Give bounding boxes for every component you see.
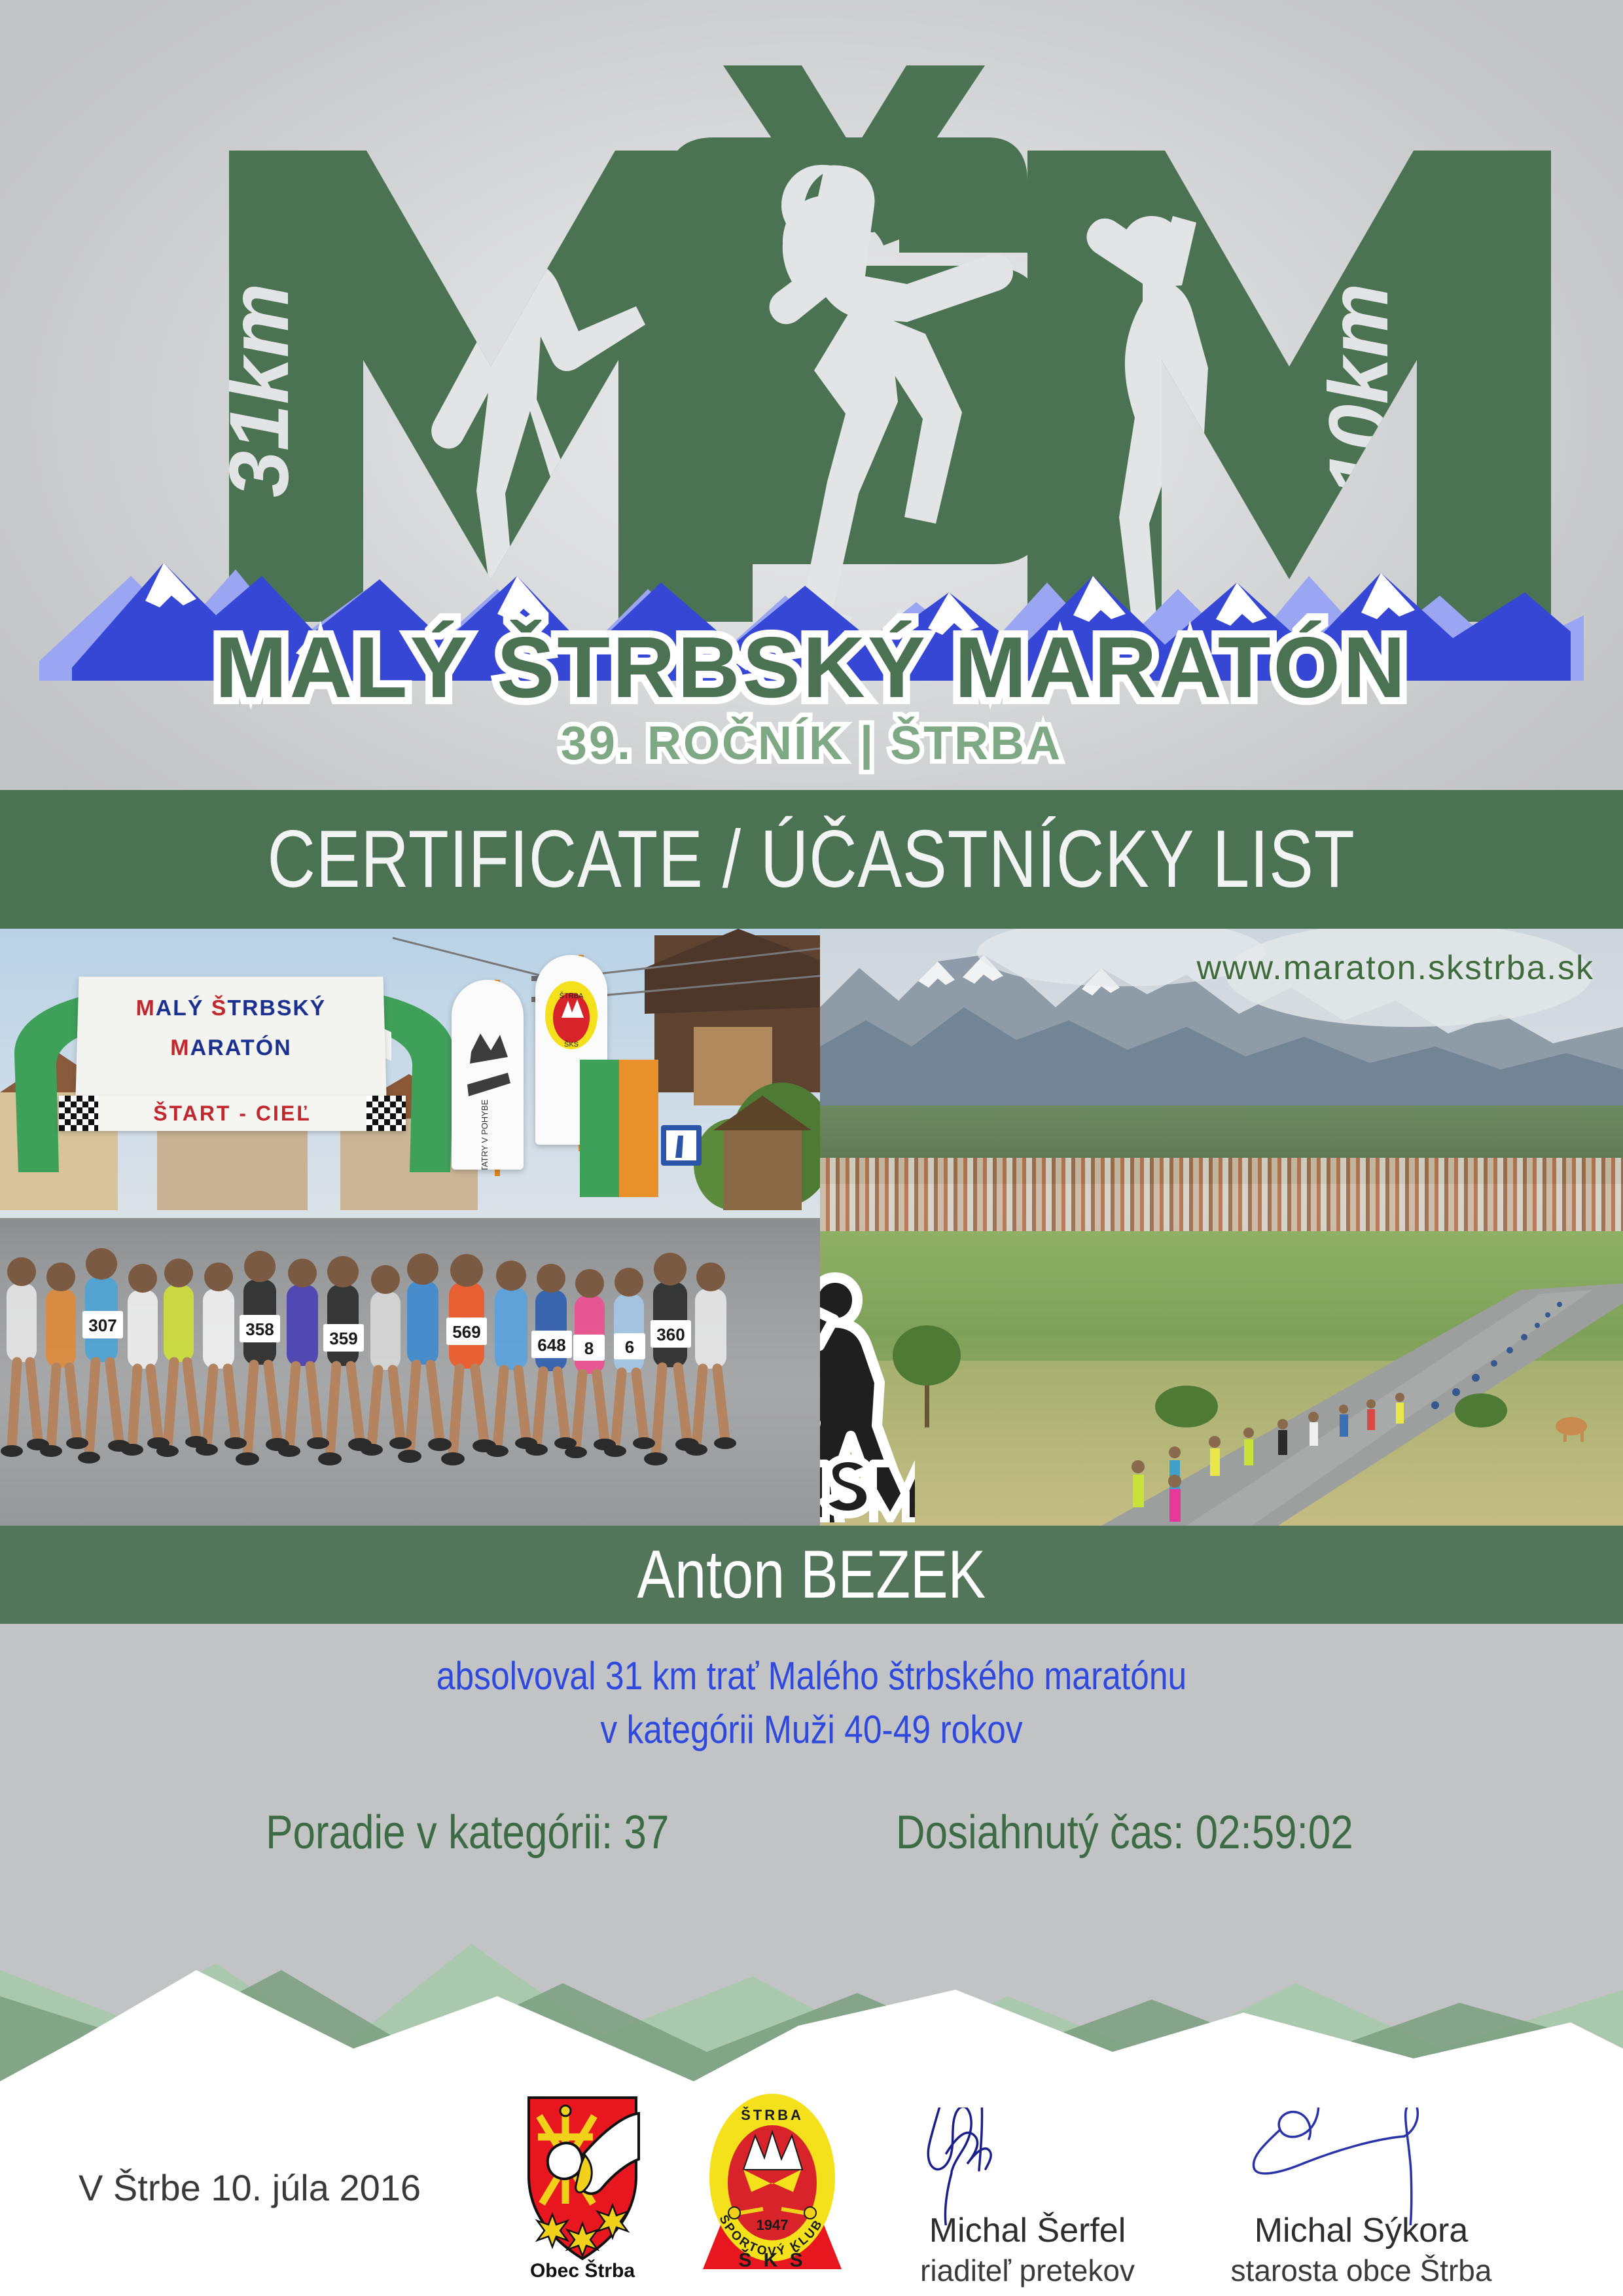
signature-name-director: Michal Šerfel — [844, 2211, 1211, 2250]
distance-left-label: 31km — [213, 283, 306, 497]
finish-time: Dosiahnutý čas: 02:59:02 — [896, 1806, 1353, 1859]
svg-text:6: 6 — [625, 1337, 634, 1357]
course-road-graphic — [820, 1264, 1623, 1526]
signature-name-mayor: Michal Sýkora — [1178, 2211, 1544, 2250]
svg-text:ŠTRBA: ŠTRBA — [560, 992, 584, 1000]
svg-text:307: 307 — [88, 1316, 116, 1335]
runners-crowd-graphic: 307 358 359 569 648 — [0, 1211, 820, 1526]
start-finish-label: ŠTART - CIEĽ — [153, 1102, 312, 1126]
certificate-title: CERTIFICATE / ÚČASTNÍCKY LIST — [268, 819, 1355, 900]
svg-text:359: 359 — [329, 1329, 357, 1348]
issue-date: V Štrbe 10. júla 2016 — [79, 2166, 421, 2209]
race-start-photo: MALÝ ŠTRBSKÝ MARATÓN ŠTART - CIEĽ TATRY … — [0, 929, 820, 1526]
bib-number: 359 — [323, 1324, 364, 1352]
svg-text:569: 569 — [452, 1322, 480, 1342]
checker-pattern-left — [59, 1096, 98, 1131]
obec-strba-coat-of-arms: Obec Štrba Obec Štrba — [517, 2092, 648, 2282]
certificate-title-bar: CERTIFICATE / ÚČASTNÍCKY LIST — [0, 790, 1623, 929]
participant-name: Anton BEZEK — [637, 1541, 986, 1609]
bib-number: 569 — [446, 1318, 487, 1345]
photo-band: MALÝ ŠTRBSKÝ MARATÓN ŠTART - CIEĽ TATRY … — [0, 929, 1623, 1526]
description-line-1: absolvoval 31 km trať Malého štrbského m… — [114, 1649, 1510, 1703]
event-name-text: MALÝ ŠTRBSKÝ MARATÓN — [215, 619, 1408, 715]
svg-text:648: 648 — [537, 1335, 565, 1355]
sks-year: 1947 — [757, 2217, 789, 2233]
signature-role-mayor: starosta obce Štrba — [1178, 2253, 1544, 2288]
signature-role-director: riaditeľ pretekov — [844, 2253, 1211, 2288]
results-row: Poradie v kategórii: 37 Dosiahnutý čas: … — [0, 1793, 1623, 1872]
participant-description: absolvoval 31 km trať Malého štrbského m… — [0, 1649, 1623, 1756]
edition-text: 39. ROČNÍK | ŠTRBA — [561, 717, 1062, 770]
coat-of-arms-icon: Obec Štrba — [517, 2092, 648, 2282]
arch-banner-line1: MALÝ ŠTRBSKÝ — [78, 996, 385, 1022]
start-finish-strip: ŠTART - CIEĽ — [59, 1096, 406, 1131]
sks-badge-icon: ŠTRBA 1947 ŠPORTOVÝ KLUB Š K Š — [700, 2091, 844, 2281]
flag-bottom-colors — [580, 1060, 658, 1197]
bib-number: 6 — [614, 1333, 645, 1359]
sks-club-badge: ŠTRBA 1947 ŠPORTOVÝ KLUB Š K Š ŠTRBA ŠPO… — [700, 2091, 844, 2281]
certificate-footer: V Štrbe 10. júla 2016 — [0, 2085, 1623, 2296]
sks-abbr: Š K Š — [738, 2249, 806, 2271]
svg-text:360: 360 — [656, 1325, 685, 1344]
bib-number: 360 — [651, 1320, 691, 1348]
race-course-landscape-photo: www.maraton.skstrba.sk <MŠM> — [820, 929, 1623, 1526]
sponsor-flag-tatry: TATRY V POHYBE — [452, 980, 524, 1170]
flag-1-text: TATRY V POHYBE — [480, 1100, 490, 1170]
bib-number: 8 — [573, 1335, 605, 1361]
participant-name-bar: Anton BEZEK — [0, 1526, 1623, 1624]
msm-runner-sticker — [820, 1267, 915, 1522]
village-town-strip — [820, 1158, 1623, 1236]
event-logo-header: 31km 10km — [0, 0, 1623, 785]
category-rank: Poradie v kategórii: 37 — [266, 1806, 669, 1859]
svg-text:ŠKS: ŠKS — [564, 1040, 579, 1049]
description-line-2: v kategórii Muži 40-49 rokov — [114, 1703, 1510, 1757]
bib-number: 307 — [82, 1311, 123, 1338]
bib-number: 648 — [531, 1331, 572, 1358]
msm-logo-graphic: 31km 10km — [0, 0, 1623, 785]
signature-block-mayor: Michal Sýkora starosta obce Štrba — [1178, 2108, 1544, 2288]
svg-text:8: 8 — [584, 1338, 594, 1358]
arch-banner: MALÝ ŠTRBSKÝ MARATÓN — [75, 977, 386, 1098]
certificate-page: 31km 10km — [0, 0, 1623, 2296]
signature-drawing-serfel — [883, 2108, 1171, 2225]
distance-right-label: 10km — [1312, 283, 1406, 497]
bib-number: 358 — [240, 1315, 280, 1342]
website-url[interactable]: www.maraton.skstrba.sk — [1197, 948, 1595, 988]
sks-top-text: ŠTRBA — [741, 2107, 804, 2123]
svg-text:358: 358 — [245, 1319, 274, 1339]
checker-pattern-right — [366, 1096, 406, 1131]
coat-of-arms-caption: Obec Štrba — [530, 2259, 635, 2282]
footer-hills-decoration — [0, 1885, 1623, 2101]
arch-banner-line2: MARATÓN — [77, 1035, 385, 1061]
signature-block-director: Michal Šerfel riaditeľ pretekov — [844, 2108, 1211, 2288]
flag-1-art: TATRY V POHYBE — [452, 980, 524, 1170]
signature-drawing-sykora — [1217, 2108, 1505, 2225]
